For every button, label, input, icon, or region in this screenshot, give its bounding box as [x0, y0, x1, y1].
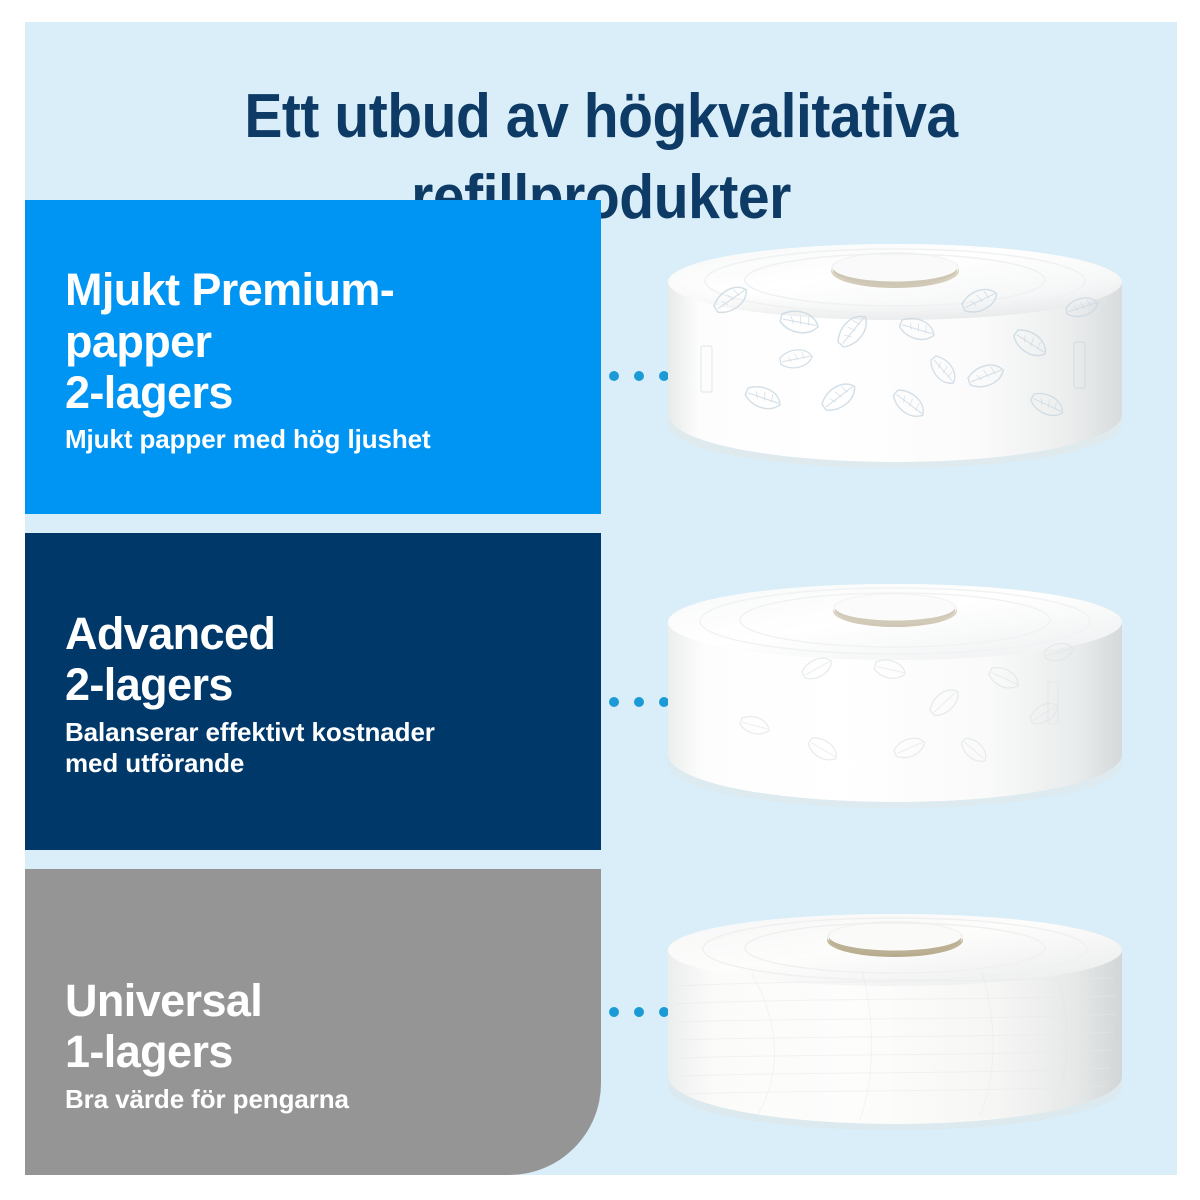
panel-subtitle-universal: Bra värde för pengarna	[65, 1084, 587, 1115]
dot-icon	[609, 1007, 619, 1017]
dot-icon	[609, 371, 619, 381]
panel-text-block: Universal 1-lagers Bra värde för pengarn…	[65, 975, 587, 1115]
dot-icon	[609, 697, 619, 707]
panel-subtitle-advanced: Balanserar effektivt kostnader med utför…	[65, 717, 587, 779]
panel-subtitle-premium: Mjukt papper med hög ljushet	[65, 424, 587, 455]
dot-icon	[634, 371, 644, 381]
product-panel-universal[interactable]: Universal 1-lagers Bra värde för pengarn…	[25, 869, 601, 1175]
panel-text-block: Mjukt Premium- papper 2-lagers Mjukt pap…	[65, 264, 587, 455]
product-panel-advanced[interactable]: Advanced 2-lagers Balanserar effektivt k…	[25, 533, 601, 850]
infographic-canvas: Ett utbud av högkvalitativa refillproduk…	[0, 0, 1200, 1200]
panel-text-block: Advanced 2-lagers Balanserar effektivt k…	[65, 608, 587, 779]
panel-heading-advanced: Advanced 2-lagers	[65, 608, 587, 711]
panel-heading-premium: Mjukt Premium- papper 2-lagers	[65, 264, 587, 418]
product-image-universal-roll	[662, 908, 1128, 1130]
panel-heading-universal: Universal 1-lagers	[65, 975, 587, 1078]
dot-icon	[634, 697, 644, 707]
product-image-advanced-roll	[662, 578, 1128, 810]
product-panel-premium[interactable]: Mjukt Premium- papper 2-lagers Mjukt pap…	[25, 200, 601, 514]
dot-icon	[634, 1007, 644, 1017]
product-image-premium-roll	[662, 238, 1128, 470]
